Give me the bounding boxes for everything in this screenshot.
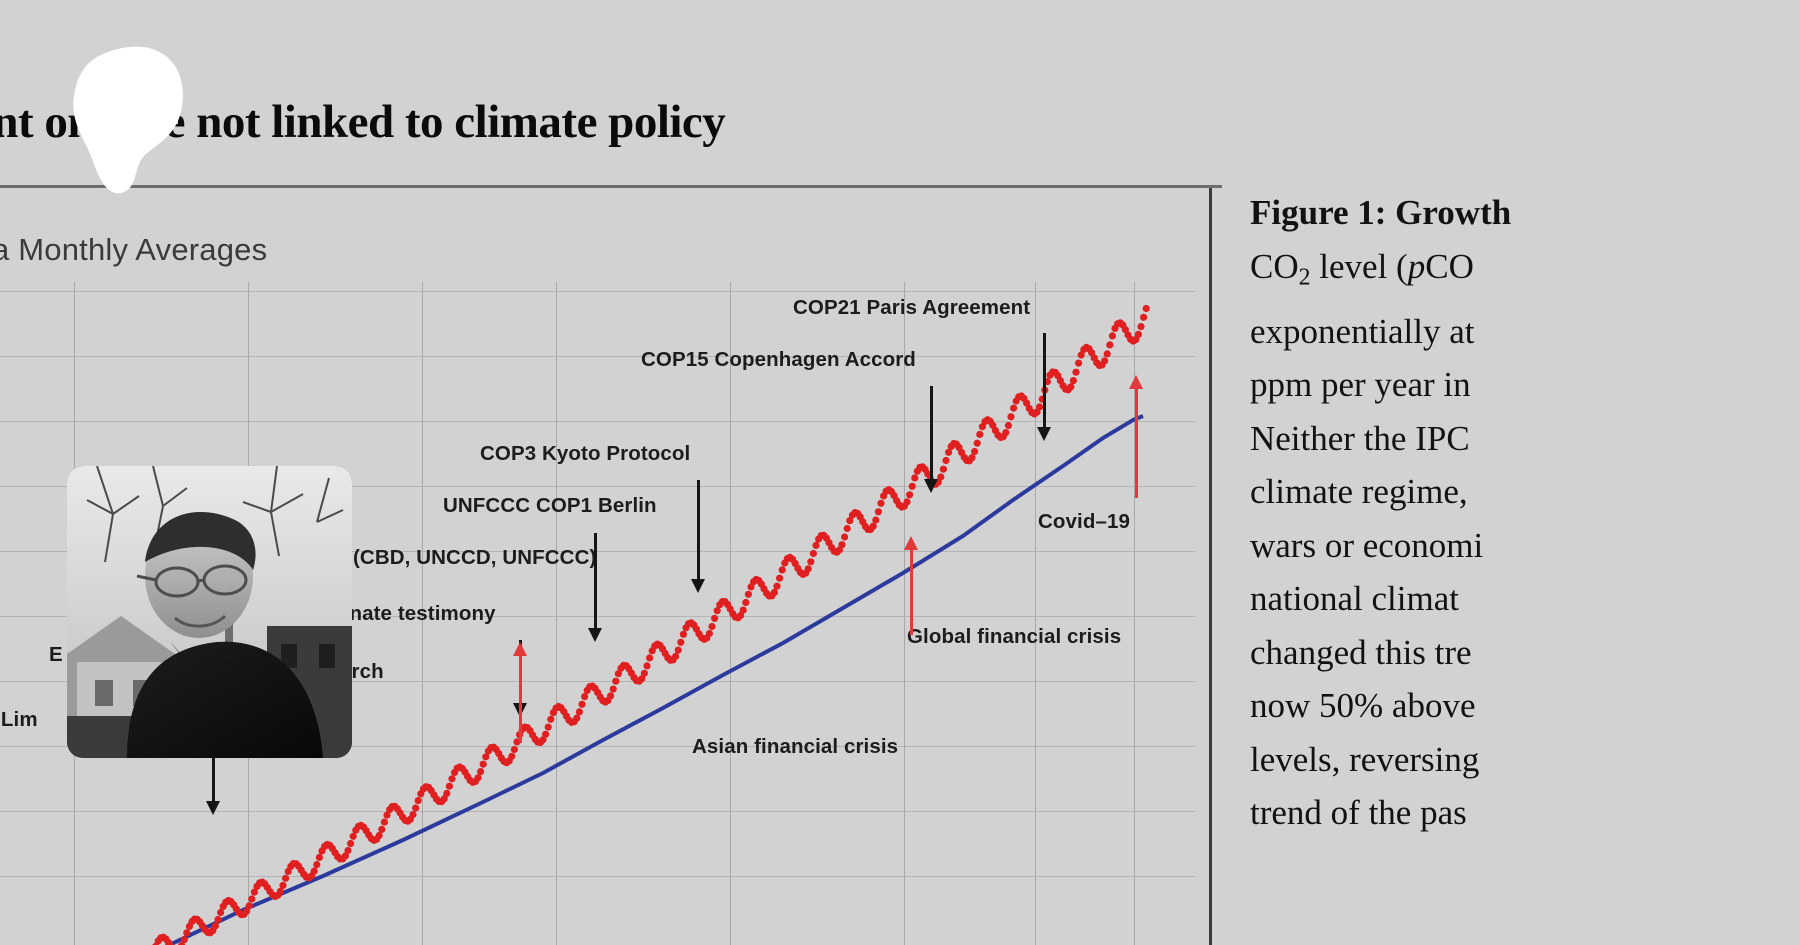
paper-paragraph: Figure 1: Growth CO2 level (pCO exponent… xyxy=(1250,186,1800,840)
paper-line-8: national climat xyxy=(1250,572,1800,626)
arrow-down-cop3 xyxy=(697,480,700,580)
paper-line-7: wars or economi xyxy=(1250,519,1800,573)
paper-line-3: exponentially at xyxy=(1250,305,1800,359)
annotation-global-financial-crisis: Global financial crisis xyxy=(907,625,1121,649)
paper-line-figure-caption: Figure 1: Growth xyxy=(1250,186,1800,240)
arrow-up-covid19 xyxy=(1135,388,1138,498)
annotation-cop1-berlin: UNFCCC COP1 Berlin xyxy=(443,494,657,518)
arrow-down-cop15 xyxy=(930,386,933,480)
paper-line-5: Neither the IPC xyxy=(1250,412,1800,466)
shared-slide-area: ent ons are not linked to climate policy xyxy=(0,0,1222,945)
chart-subtitle: a Monthly Averages xyxy=(0,232,267,268)
paper-text-panel: Figure 1: Growth CO2 level (pCO exponent… xyxy=(1222,0,1800,945)
webcam-frame xyxy=(67,466,352,758)
arrow-up-global-financial-crisis xyxy=(910,549,913,635)
webcam-video-overlay[interactable] xyxy=(67,466,352,758)
paper-line-9: changed this tre xyxy=(1250,626,1800,680)
paper-line-10: now 50% above xyxy=(1250,679,1800,733)
arrow-down-cop1 xyxy=(594,533,597,629)
annotation-cop15: COP15 Copenhagen Accord xyxy=(641,348,916,372)
annotation-asian-financial-crisis: Asian financial crisis xyxy=(692,735,898,759)
annotation-limits-to-growth: he Lim xyxy=(0,708,38,732)
annotation-earth-summit: E xyxy=(49,643,63,667)
paper-line-4: ppm per year in xyxy=(1250,358,1800,412)
paper-line-12: trend of the pas xyxy=(1250,786,1800,840)
paper-line-2: CO2 level (pCO xyxy=(1250,240,1800,305)
annotation-cop21: COP21 Paris Agreement xyxy=(793,296,1030,320)
annotation-cop3: COP3 Kyoto Protocol xyxy=(480,442,690,466)
arrow-down-cop21 xyxy=(1043,333,1046,428)
annotation-covid19: Covid–19 xyxy=(1038,510,1130,534)
paper-line-6: climate regime, xyxy=(1250,465,1800,519)
paper-line-11: levels, reversing xyxy=(1250,733,1800,787)
cursor-pointer-blob xyxy=(60,40,200,195)
annotation-conventions: (CBD, UNCCD, UNFCCC) xyxy=(353,546,596,570)
arrow-up-asian-financial-crisis xyxy=(519,655,522,743)
annotation-senate-testimony: enate testimony xyxy=(338,602,496,626)
